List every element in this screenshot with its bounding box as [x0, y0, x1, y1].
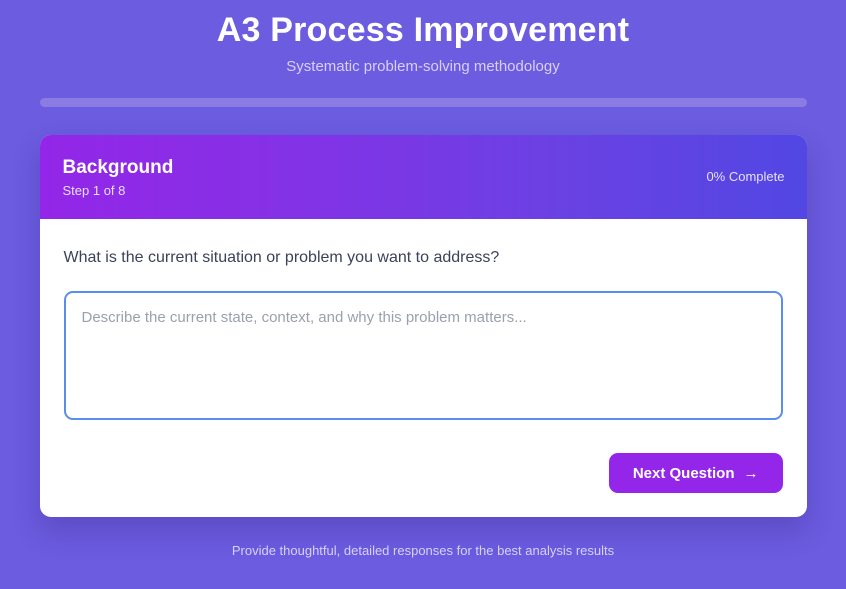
- step-card: Background Step 1 of 8 0% Complete What …: [40, 135, 807, 517]
- footer-hint: Provide thoughtful, detailed responses f…: [0, 517, 846, 559]
- completion-badge: 0% Complete: [706, 169, 784, 185]
- arrow-right-icon: →: [744, 466, 759, 481]
- app-header: A3 Process Improvement Systematic proble…: [0, 0, 846, 76]
- page-title: A3 Process Improvement: [0, 9, 846, 51]
- a3-process-improvement-page: A3 Process Improvement Systematic proble…: [0, 0, 846, 589]
- step-card-body: What is the current situation or problem…: [40, 219, 807, 517]
- step-counter: Step 1 of 8: [63, 179, 174, 199]
- step-title: Background: [63, 156, 174, 179]
- page-subtitle: Systematic problem-solving methodology: [0, 51, 846, 76]
- step-card-header: Background Step 1 of 8 0% Complete: [40, 135, 807, 219]
- next-question-button[interactable]: Next Question →: [609, 453, 783, 493]
- progress-bar-track: [40, 98, 807, 107]
- next-question-label: Next Question: [633, 466, 735, 481]
- step-card-header-left: Background Step 1 of 8: [63, 156, 174, 199]
- card-actions: Next Question →: [64, 420, 783, 493]
- question-text: What is the current situation or problem…: [64, 247, 783, 269]
- answer-textarea[interactable]: [64, 291, 783, 420]
